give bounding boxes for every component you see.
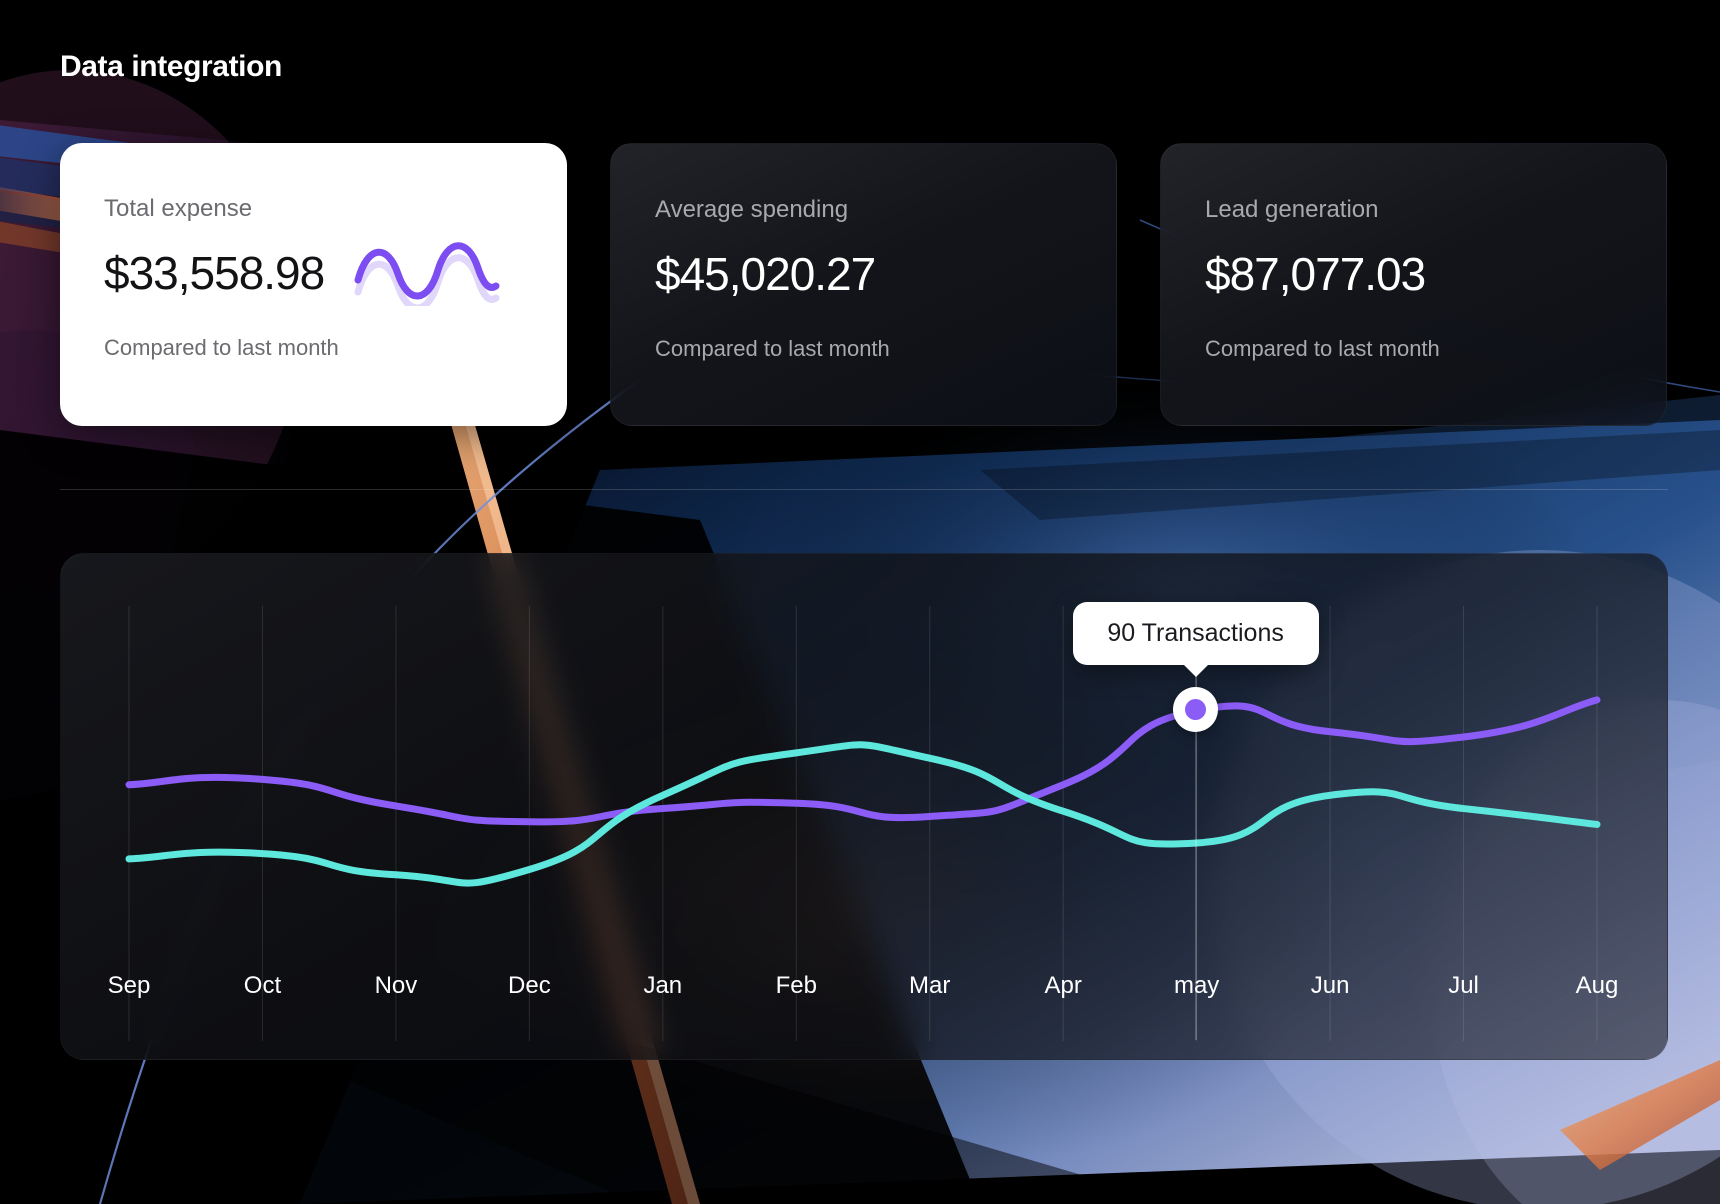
stat-card-subtitle: Compared to last month (655, 338, 1072, 360)
chart-x-tick-label: Oct (244, 972, 281, 1000)
stat-card-average-spending[interactable]: Average spending $45,020.27 Compared to … (610, 143, 1117, 426)
chart-x-tick-label: Feb (776, 972, 817, 1000)
chart-x-tick-label: Apr (1044, 972, 1081, 1000)
chart-series-lines (129, 700, 1597, 883)
stat-card-value-row: $87,077.03 (1205, 244, 1622, 304)
chart-panel: SepOctNovDecJanFebMarAprmayJunJulAug (60, 553, 1668, 1060)
stat-card-label: Total expense (104, 197, 523, 221)
stat-card-subtitle: Compared to last month (1205, 338, 1622, 360)
sine-wave-icon (354, 236, 500, 311)
chart-x-axis: SepOctNovDecJanFebMarAprmayJunJulAug (61, 972, 1668, 1022)
chart-x-tick-label: Jan (643, 972, 682, 1000)
stat-card-label: Lead generation (1205, 198, 1622, 222)
page-title: Data integration (60, 50, 282, 84)
chart-x-tick-label: Mar (909, 972, 950, 1000)
stat-card-value: $45,020.27 (655, 251, 875, 297)
chart-x-tick-label: Jul (1448, 972, 1479, 1000)
stat-card-subtitle: Compared to last month (104, 337, 523, 359)
stat-card-value: $33,558.98 (104, 250, 324, 296)
stat-card-label: Average spending (655, 198, 1072, 222)
chart-highlight-marker[interactable] (1173, 687, 1218, 732)
tooltip-stem-line (1195, 605, 1197, 1040)
chart-series-line (129, 700, 1597, 822)
section-divider (60, 489, 1668, 490)
chart-x-tick-label: Sep (108, 972, 151, 1000)
stat-card-total-expense[interactable]: Total expense $33,558.98 Compared to las… (60, 143, 567, 426)
stat-card-value-row: $33,558.98 (104, 243, 523, 303)
stat-cards-row: Total expense $33,558.98 Compared to las… (60, 143, 1668, 426)
stat-card-value: $87,077.03 (1205, 251, 1425, 297)
stat-card-lead-generation[interactable]: Lead generation $87,077.03 Compared to l… (1160, 143, 1667, 426)
chart-x-tick-label: Aug (1576, 972, 1619, 1000)
chart-x-tick-label: Nov (375, 972, 418, 1000)
stat-card-value-row: $45,020.27 (655, 244, 1072, 304)
chart-x-tick-label: Dec (508, 972, 551, 1000)
chart-x-tick-label: Jun (1311, 972, 1350, 1000)
dashboard-root: Data integration Total expense $33,558.9… (0, 0, 1720, 1204)
chart-x-tick-label: may (1174, 972, 1219, 1000)
